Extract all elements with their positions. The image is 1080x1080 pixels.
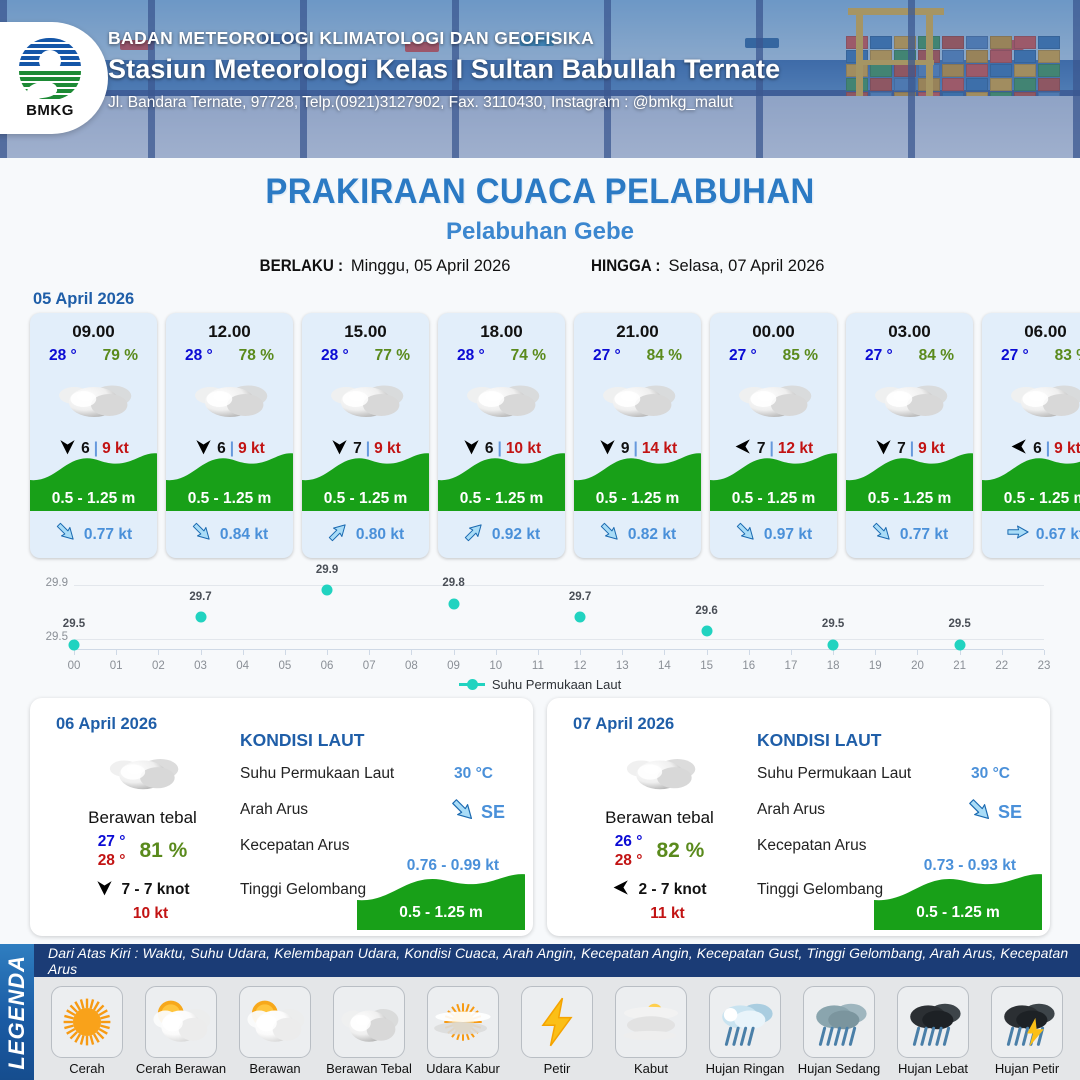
- card-humidity: 78 %: [239, 347, 274, 365]
- page-title: PRAKIRAAN CUACA PELABUHAN: [32, 172, 1047, 212]
- hujan-ringan-icon: [709, 986, 781, 1058]
- current-speed-label: Kecepatan Arus: [240, 837, 349, 854]
- hourly-card[interactable]: 00.0027 °85 %7|12 kt0.5 - 1.25 m0.97 kt: [710, 313, 837, 558]
- daily-temps: 27 °28 °: [98, 832, 126, 871]
- chart-x-tickmark: [411, 650, 412, 655]
- daily-temp-min: 26 °: [615, 832, 643, 851]
- chart-x-tickmark: [538, 650, 539, 655]
- validity-row: BERLAKU : Minggu, 05 April 2026 HINGGA :…: [0, 257, 1080, 276]
- sst-chart: 29.529.900010203040506070809101112131415…: [22, 572, 1058, 684]
- card-temperature: 27 °: [865, 347, 893, 365]
- bmkg-logo-text: BMKG: [26, 102, 74, 119]
- chart-gridline: [74, 585, 1044, 586]
- daily-wind-row: 7 - 7 knot: [50, 878, 235, 902]
- legend-item[interactable]: Berawan Tebal: [322, 986, 416, 1076]
- chart-x-tickmark: [1002, 650, 1003, 655]
- legend-item[interactable]: Cerah Berawan: [134, 986, 228, 1076]
- daily-wind-range: 7 - 7 knot: [121, 881, 189, 899]
- daily-wave-graphic: 0.5 - 1.25 m: [357, 870, 525, 930]
- kabut-icon: [615, 986, 687, 1058]
- daily-temp-max: 28 °: [98, 851, 126, 870]
- chart-data-point: [448, 598, 459, 609]
- chart-x-tick-label: 14: [658, 660, 671, 672]
- legend-item[interactable]: Udara Kabur: [416, 986, 510, 1076]
- header-text-group: BADAN METEOROLOGI KLIMATOLOGI DAN GEOFIS…: [108, 28, 780, 112]
- petir-icon: [521, 986, 593, 1058]
- card-humidity: 83 %: [1055, 347, 1080, 365]
- berawan-tebal-icon: [574, 369, 701, 427]
- current-direction-arrow-icon: [871, 521, 893, 548]
- page-header: BMKG BADAN METEOROLOGI KLIMATOLOGI DAN G…: [0, 0, 1080, 158]
- chart-x-tickmark: [74, 650, 75, 655]
- current-direction-arrow-icon: [967, 797, 993, 828]
- current-direction-arrow-icon: [735, 521, 757, 548]
- sea-section-title: KONDISI LAUT: [757, 730, 1034, 751]
- current-direction-value-group: SE: [967, 797, 1022, 828]
- daily-wave-value: 0.5 - 1.25 m: [874, 904, 1042, 922]
- card-time: 09.00: [30, 322, 157, 342]
- card-wave-height: 0.5 - 1.25 m: [982, 490, 1080, 508]
- card-time: 21.00: [574, 322, 701, 342]
- current-direction-arrow-icon: [599, 521, 621, 548]
- chart-x-tickmark: [580, 650, 581, 655]
- daily-condition: Berawan tebal: [567, 808, 752, 828]
- hourly-card[interactable]: 18.0028 °74 %6|10 kt0.5 - 1.25 m0.92 kt: [438, 313, 565, 558]
- chart-x-tick-label: 15: [700, 660, 713, 672]
- berlaku-value: Minggu, 05 April 2026: [351, 257, 511, 275]
- card-current-speed: 0.97 kt: [764, 526, 812, 544]
- chart-data-point: [575, 612, 586, 623]
- card-current-row: 0.80 kt: [302, 521, 429, 548]
- legend-item[interactable]: Berawan: [228, 986, 322, 1076]
- legend-item-label: Kabut: [634, 1061, 668, 1076]
- hourly-card[interactable]: 09.0028 °79 %6|9 kt0.5 - 1.25 m0.77 kt: [30, 313, 157, 558]
- hourly-card[interactable]: 03.0027 °84 %7|9 kt0.5 - 1.25 m0.77 kt: [846, 313, 973, 558]
- legend-sidebar-label: LEGENDA: [4, 955, 30, 1070]
- daily-panel[interactable]: 06 April 2026Berawan tebal27 °28 °81 %7 …: [30, 698, 533, 936]
- daily-humidity: 82 %: [656, 839, 704, 863]
- sst-label: Suhu Permukaan Laut: [757, 765, 911, 782]
- card-temperature: 28 °: [49, 347, 77, 365]
- chart-x-tick-label: 13: [616, 660, 629, 672]
- chart-x-tick-label: 12: [574, 660, 587, 672]
- chart-x-tickmark: [369, 650, 370, 655]
- sst-row: Suhu Permukaan Laut30 °C: [757, 765, 1034, 787]
- legend-sidebar: LEGENDA: [0, 944, 34, 1080]
- chart-x-tick-label: 01: [110, 660, 123, 672]
- chart-x-tick-label: 00: [68, 660, 81, 672]
- station-contact: Jl. Bandara Ternate, 97728, Telp.(0921)3…: [108, 94, 780, 112]
- chart-data-label: 29.5: [948, 618, 970, 630]
- hujan-petir-icon: [991, 986, 1063, 1058]
- card-current-row: 0.77 kt: [846, 521, 973, 548]
- chart-x-tickmark: [960, 650, 961, 655]
- chart-x-tickmark: [791, 650, 792, 655]
- current-direction-label: Arah Arus: [757, 801, 825, 818]
- legend-item[interactable]: Hujan Lebat: [886, 986, 980, 1076]
- card-current-row: 0.67 kt: [982, 521, 1080, 548]
- agency-name: BADAN METEOROLOGI KLIMATOLOGI DAN GEOFIS…: [108, 28, 780, 49]
- hourly-forecast-cards: 09.0028 °79 %6|9 kt0.5 - 1.25 m0.77 kt12…: [0, 313, 1080, 558]
- daily-gust: 11 kt: [583, 905, 752, 923]
- chart-x-tickmark: [664, 650, 665, 655]
- legend-main: Dari Atas Kiri : Waktu, Suhu Udara, Kele…: [34, 944, 1080, 1080]
- card-current-speed: 0.92 kt: [492, 526, 540, 544]
- hingga-value: Selasa, 07 April 2026: [669, 257, 825, 275]
- legend-item-label: Hujan Petir: [995, 1061, 1059, 1076]
- current-speed-row: Kecepatan Arus0.73 - 0.93 kt: [757, 837, 1034, 859]
- chart-y-tick-label: 29.5: [28, 631, 68, 643]
- card-wave-height: 0.5 - 1.25 m: [30, 490, 157, 508]
- legend-item-label: Cerah Berawan: [136, 1061, 226, 1076]
- chart-x-tick-label: 22: [995, 660, 1008, 672]
- chart-data-point: [322, 585, 333, 596]
- current-direction-arrow-icon: [191, 521, 213, 548]
- card-current-speed: 0.82 kt: [628, 526, 676, 544]
- hingga-label: HINGGA :: [591, 257, 660, 276]
- hujan-sedang-icon: [803, 986, 875, 1058]
- chart-x-tickmark: [622, 650, 623, 655]
- card-temp-hum-row: 28 °74 %: [438, 347, 565, 365]
- chart-x-tick-label: 19: [869, 660, 882, 672]
- chart-x-tick-label: 21: [953, 660, 966, 672]
- cerah-icon: [51, 986, 123, 1058]
- chart-x-axis: [74, 649, 1044, 650]
- chart-data-point: [195, 612, 206, 623]
- sst-row: Suhu Permukaan Laut30 °C: [240, 765, 517, 787]
- chart-legend-marker-icon: [459, 683, 485, 686]
- chart-x-tickmark: [1044, 650, 1045, 655]
- card-temperature: 27 °: [593, 347, 621, 365]
- card-wave-height: 0.5 - 1.25 m: [166, 490, 293, 508]
- legend-item[interactable]: Hujan Ringan: [698, 986, 792, 1076]
- daily-temps: 26 °28 °: [615, 832, 643, 871]
- daily-temp-min: 27 °: [98, 832, 126, 851]
- daily-wave-graphic: 0.5 - 1.25 m: [874, 870, 1042, 930]
- card-temperature: 27 °: [729, 347, 757, 365]
- chart-x-tickmark: [707, 650, 708, 655]
- chart-x-tick-label: 05: [278, 660, 291, 672]
- berawan-tebal-icon: [438, 369, 565, 427]
- logo-sky-arc: [19, 38, 81, 68]
- chart-x-tick-label: 08: [405, 660, 418, 672]
- card-temp-hum-row: 27 °84 %: [574, 347, 701, 365]
- daily-condition: Berawan tebal: [50, 808, 235, 828]
- chart-x-tick-label: 06: [321, 660, 334, 672]
- chart-data-label: 29.7: [569, 591, 591, 603]
- current-direction-label: Arah Arus: [240, 801, 308, 818]
- card-time: 15.00: [302, 322, 429, 342]
- daily-wave-value: 0.5 - 1.25 m: [357, 904, 525, 922]
- sst-label: Suhu Permukaan Laut: [240, 765, 394, 782]
- logo-earth-arc: [19, 71, 81, 100]
- chart-x-tick-label: 18: [827, 660, 840, 672]
- card-current-row: 0.77 kt: [30, 521, 157, 548]
- card-current-speed: 0.67 kt: [1036, 526, 1080, 544]
- chart-data-label: 29.8: [442, 577, 464, 589]
- udara-kabur-icon: [427, 986, 499, 1058]
- daily-temp-max: 28 °: [615, 851, 643, 870]
- card-temp-hum-row: 27 °85 %: [710, 347, 837, 365]
- current-speed-row: Kecepatan Arus0.76 - 0.99 kt: [240, 837, 517, 859]
- card-wave-height: 0.5 - 1.25 m: [302, 490, 429, 508]
- current-direction-arrow-icon: [463, 521, 485, 548]
- daily-date: 06 April 2026: [56, 715, 157, 734]
- card-temp-hum-row: 27 °83 %: [982, 347, 1080, 365]
- daily-date: 07 April 2026: [573, 715, 674, 734]
- wave-height-label: Tinggi Gelombang: [757, 881, 883, 898]
- chart-data-label: 29.9: [316, 564, 338, 576]
- current-direction-value-group: SE: [450, 797, 505, 828]
- hujan-lebat-icon: [897, 986, 969, 1058]
- card-humidity: 74 %: [511, 347, 546, 365]
- daily-wind-row: 2 - 7 knot: [567, 878, 752, 902]
- chart-x-tickmark: [201, 650, 202, 655]
- chart-data-label: 29.5: [63, 618, 85, 630]
- legend-item-label: Cerah: [69, 1061, 104, 1076]
- card-temp-hum-row: 28 °78 %: [166, 347, 293, 365]
- chart-x-tick-label: 17: [785, 660, 798, 672]
- chart-data-label: 29.6: [695, 605, 717, 617]
- legend-item[interactable]: Hujan Sedang: [792, 986, 886, 1076]
- legend-item-label: Udara Kabur: [426, 1061, 500, 1076]
- chart-x-tick-label: 20: [911, 660, 924, 672]
- hingga-group: HINGGA : Selasa, 07 April 2026: [588, 257, 824, 276]
- bmkg-logo: BMKG: [0, 22, 108, 134]
- chart-x-tick-label: 02: [152, 660, 165, 672]
- chart-x-tickmark: [833, 650, 834, 655]
- chart-x-tick-label: 23: [1038, 660, 1051, 672]
- legend-item-label: Hujan Lebat: [898, 1061, 968, 1076]
- daily-left-column: Berawan tebal26 °28 °82 %2 - 7 knot11 kt: [567, 742, 752, 923]
- daily-forecast-panels: 06 April 2026Berawan tebal27 °28 °81 %7 …: [0, 698, 1080, 936]
- chart-data-point: [828, 639, 839, 650]
- daily-panel[interactable]: 07 April 2026Berawan tebal26 °28 °82 %2 …: [547, 698, 1050, 936]
- legend-item-label: Hujan Sedang: [798, 1061, 880, 1076]
- infographic-root: BMKG BADAN METEOROLOGI KLIMATOLOGI DAN G…: [0, 0, 1080, 1080]
- berawan-tebal-icon: [982, 369, 1080, 427]
- daily-humidity: 81 %: [139, 839, 187, 863]
- chart-x-tickmark: [875, 650, 876, 655]
- card-current-speed: 0.84 kt: [220, 526, 268, 544]
- legend-item-label: Petir: [544, 1061, 571, 1076]
- legend-items: CerahCerah BerawanBerawanBerawan TebalUd…: [34, 977, 1080, 1080]
- current-direction-row: Arah ArusSE: [757, 801, 1034, 823]
- wave-height-label: Tinggi Gelombang: [240, 881, 366, 898]
- card-temperature: 27 °: [1001, 347, 1029, 365]
- chart-x-tickmark: [454, 650, 455, 655]
- chart-x-tick-label: 04: [236, 660, 249, 672]
- chart-x-tickmark: [496, 650, 497, 655]
- hourly-card[interactable]: 12.0028 °78 %6|9 kt0.5 - 1.25 m0.84 kt: [166, 313, 293, 558]
- card-current-row: 0.82 kt: [574, 521, 701, 548]
- card-current-speed: 0.77 kt: [84, 526, 132, 544]
- chart-x-tickmark: [243, 650, 244, 655]
- card-wave-height: 0.5 - 1.25 m: [574, 490, 701, 508]
- sst-value: 30 °C: [454, 765, 493, 783]
- berawan-tebal-icon: [846, 369, 973, 427]
- chart-data-label: 29.5: [822, 618, 844, 630]
- current-direction-value: SE: [998, 802, 1022, 823]
- card-temperature: 28 °: [457, 347, 485, 365]
- chart-x-tickmark: [917, 650, 918, 655]
- legend-note: Dari Atas Kiri : Waktu, Suhu Udara, Kele…: [34, 944, 1080, 977]
- berlaku-group: BERLAKU : Minggu, 05 April 2026: [256, 257, 511, 276]
- card-humidity: 84 %: [647, 347, 682, 365]
- card-current-speed: 0.77 kt: [900, 526, 948, 544]
- legend-section: LEGENDA Dari Atas Kiri : Waktu, Suhu Uda…: [0, 944, 1080, 1080]
- current-direction-row: Arah ArusSE: [240, 801, 517, 823]
- wind-direction-arrow-icon: [95, 878, 114, 902]
- card-wave-height: 0.5 - 1.25 m: [710, 490, 837, 508]
- daily-wind-range: 2 - 7 knot: [638, 881, 706, 899]
- sea-section-title: KONDISI LAUT: [240, 730, 517, 751]
- berawan-tebal-icon: [567, 742, 752, 800]
- station-name: Stasiun Meteorologi Kelas I Sultan Babul…: [108, 54, 780, 85]
- card-time: 00.00: [710, 322, 837, 342]
- berawan-icon: [239, 986, 311, 1058]
- current-direction-arrow-icon: [327, 521, 349, 548]
- chart-y-tick-label: 29.9: [28, 577, 68, 589]
- card-time: 18.00: [438, 322, 565, 342]
- card-time: 06.00: [982, 322, 1080, 342]
- cerah-berawan-icon: [145, 986, 217, 1058]
- card-temp-hum-row: 28 °77 %: [302, 347, 429, 365]
- hourly-card[interactable]: 15.0028 °77 %7|9 kt0.5 - 1.25 m0.80 kt: [302, 313, 429, 558]
- chart-x-tick-label: 16: [742, 660, 755, 672]
- current-direction-arrow-icon: [55, 521, 77, 548]
- chart-data-point: [69, 639, 80, 650]
- current-direction-value: SE: [481, 802, 505, 823]
- card-temp-hum-row: 28 °79 %: [30, 347, 157, 365]
- chart-data-point: [701, 626, 712, 637]
- card-temperature: 28 °: [321, 347, 349, 365]
- card-current-row: 0.84 kt: [166, 521, 293, 548]
- hourly-date-label: 05 April 2026: [33, 290, 1080, 309]
- legend-item-label: Berawan Tebal: [326, 1061, 412, 1076]
- chart-plot-area: 29.529.900010203040506070809101112131415…: [74, 578, 1044, 650]
- hourly-card[interactable]: 06.0027 °83 %6|9 kt0.5 - 1.25 m0.67 kt: [982, 313, 1080, 558]
- current-speed-label: Kecepatan Arus: [757, 837, 866, 854]
- card-current-row: 0.97 kt: [710, 521, 837, 548]
- chart-x-tick-label: 09: [447, 660, 460, 672]
- berawan-tebal-icon: [333, 986, 405, 1058]
- berawan-tebal-icon: [30, 369, 157, 427]
- card-wave-height: 0.5 - 1.25 m: [846, 490, 973, 508]
- card-temp-hum-row: 27 °84 %: [846, 347, 973, 365]
- card-humidity: 77 %: [375, 347, 410, 365]
- chart-x-tickmark: [749, 650, 750, 655]
- card-current-row: 0.92 kt: [438, 521, 565, 548]
- card-current-speed: 0.80 kt: [356, 526, 404, 544]
- legend-item[interactable]: Hujan Petir: [980, 986, 1074, 1076]
- chart-x-tick-label: 03: [194, 660, 207, 672]
- card-wave-height: 0.5 - 1.25 m: [438, 490, 565, 508]
- chart-x-tick-label: 11: [532, 660, 544, 672]
- bmkg-logo-mark: [19, 38, 81, 100]
- legend-item[interactable]: Kabut: [604, 986, 698, 1076]
- chart-gridline: [74, 639, 1044, 640]
- daily-left-column: Berawan tebal27 °28 °81 %7 - 7 knot10 kt: [50, 742, 235, 923]
- chart-x-tickmark: [158, 650, 159, 655]
- title-block: PRAKIRAAN CUACA PELABUHAN Pelabuhan Gebe…: [0, 158, 1080, 276]
- legend-item[interactable]: Cerah: [40, 986, 134, 1076]
- sst-value: 30 °C: [971, 765, 1010, 783]
- card-humidity: 85 %: [783, 347, 818, 365]
- current-direction-arrow-icon: [450, 797, 476, 828]
- wind-direction-arrow-icon: [612, 878, 631, 902]
- chart-x-tickmark: [285, 650, 286, 655]
- chart-x-tickmark: [116, 650, 117, 655]
- card-humidity: 79 %: [103, 347, 138, 365]
- chart-x-tick-label: 07: [363, 660, 376, 672]
- card-humidity: 84 %: [919, 347, 954, 365]
- chart-x-tick-label: 10: [489, 660, 502, 672]
- berlaku-label: BERLAKU :: [259, 257, 342, 276]
- chart-legend-label: Suhu Permukaan Laut: [492, 677, 621, 692]
- chart-data-point: [954, 639, 965, 650]
- daily-temp-hum-row: 26 °28 °82 %: [567, 832, 752, 871]
- legend-item[interactable]: Petir: [510, 986, 604, 1076]
- berawan-tebal-icon: [50, 742, 235, 800]
- card-temperature: 28 °: [185, 347, 213, 365]
- legend-item-label: Hujan Ringan: [706, 1061, 785, 1076]
- chart-x-tickmark: [327, 650, 328, 655]
- daily-temp-hum-row: 27 °28 °81 %: [50, 832, 235, 871]
- berawan-tebal-icon: [710, 369, 837, 427]
- legend-item-label: Berawan: [249, 1061, 300, 1076]
- daily-gust: 10 kt: [66, 905, 235, 923]
- berawan-tebal-icon: [166, 369, 293, 427]
- berawan-tebal-icon: [302, 369, 429, 427]
- card-time: 03.00: [846, 322, 973, 342]
- current-direction-arrow-icon: [1007, 521, 1029, 548]
- hourly-card[interactable]: 21.0027 °84 %9|14 kt0.5 - 1.25 m0.82 kt: [574, 313, 701, 558]
- chart-legend: Suhu Permukaan Laut: [22, 677, 1058, 692]
- card-time: 12.00: [166, 322, 293, 342]
- page-subtitle: Pelabuhan Gebe: [0, 218, 1080, 246]
- chart-data-label: 29.7: [189, 591, 211, 603]
